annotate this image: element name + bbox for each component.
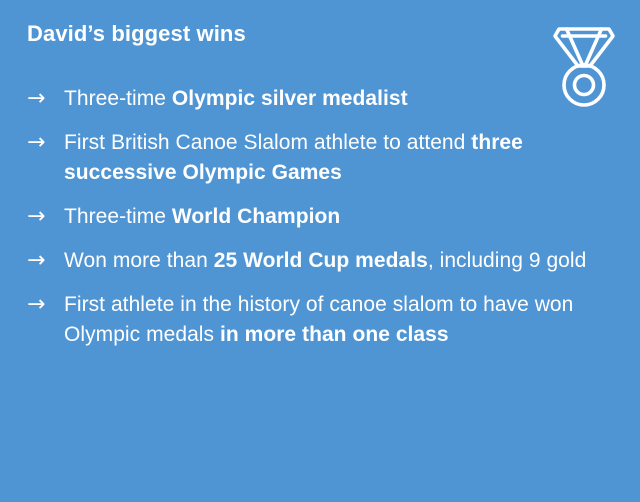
text-segment: , including 9 gold [428,249,587,272]
page-title: David’s biggest wins [27,21,246,46]
text-segment: Won more than [64,249,214,272]
achievements-list: → Three-time Olympic silver medalist → F… [27,84,617,350]
list-item-text: Won more than 25 World Cup medals, inclu… [64,249,586,272]
arrow-right-icon: → [27,290,55,320]
list-item-text: First athlete in the history of canoe sl… [64,293,573,346]
text-segment: First British Canoe Slalom athlete to at… [64,131,471,154]
arrow-right-icon: → [27,246,55,276]
list-item: → First athlete in the history of canoe … [27,290,617,350]
arrow-right-icon: → [27,128,55,158]
list-item: → First British Canoe Slalom athlete to … [27,128,617,188]
text-segment: Three-time [64,205,172,228]
text-segment-bold: Olympic silver medalist [172,87,408,110]
list-item: → Three-time World Champion [27,202,617,232]
list-item: → Won more than 25 World Cup medals, inc… [27,246,617,276]
list-item-text: First British Canoe Slalom athlete to at… [64,131,523,184]
text-segment: Three-time [64,87,172,110]
arrow-right-icon: → [27,202,55,232]
text-segment-bold: in more than one class [220,323,449,346]
text-segment-bold: 25 World Cup medals [214,249,428,272]
list-item: → Three-time Olympic silver medalist [27,84,617,114]
list-item-text: Three-time World Champion [64,205,340,228]
arrow-right-icon: → [27,84,55,114]
list-item-text: Three-time Olympic silver medalist [64,87,408,110]
text-segment-bold: World Champion [172,205,340,228]
slide-canvas: David’s biggest wins → Three-time Olympi… [0,0,640,502]
